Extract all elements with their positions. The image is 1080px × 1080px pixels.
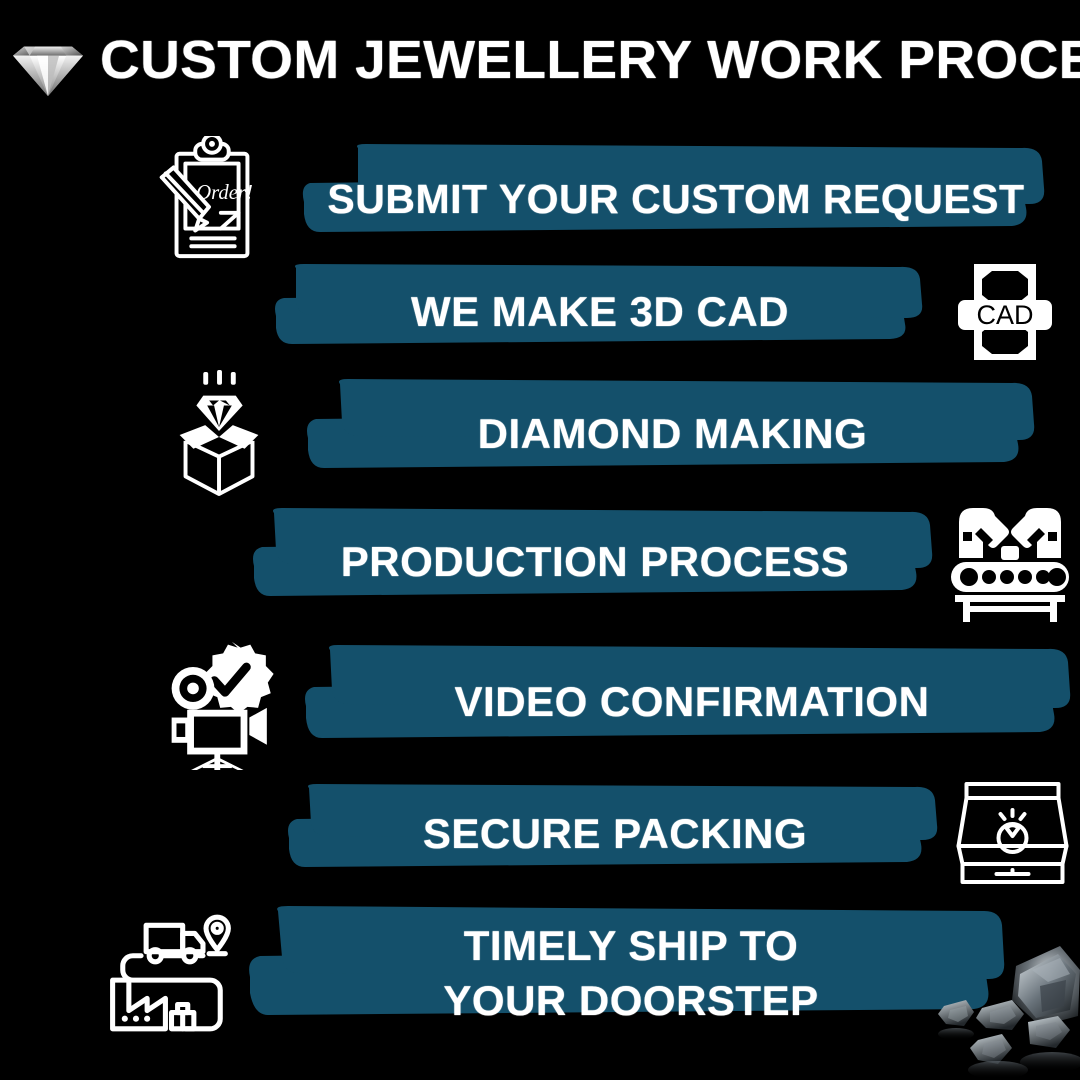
robotic-arm-conveyor-icon: [940, 502, 1080, 622]
clipboard-order-pencil-icon: Order!: [126, 136, 296, 264]
step-label: DIAMOND MAKING: [460, 410, 886, 459]
process-step-row: VIDEO CONFIRMATION: [0, 634, 1080, 770]
icon-caption: CAD: [976, 300, 1033, 330]
step-label: PRODUCTION PROCESS: [323, 538, 867, 587]
process-step-row: CAD WE MAKE 3D CAD: [0, 258, 1080, 366]
factory-truck-delivery-icon: [96, 900, 246, 1046]
step-banner[interactable]: SECURE PACKING: [285, 782, 945, 886]
video-camera-check-icon: [152, 634, 302, 770]
step-label: WE MAKE 3D CAD: [393, 288, 807, 337]
step-banner[interactable]: TIMELY SHIP TO YOUR DOORSTEP: [246, 903, 1016, 1043]
step-banner[interactable]: VIDEO CONFIRMATION: [302, 642, 1080, 762]
ring-box-icon: [945, 778, 1080, 890]
process-step-row: Order! SUBMIT YOUR CUSTOM REQUEST: [0, 136, 1080, 264]
cad-printer-icon: CAD: [930, 258, 1080, 366]
step-banner[interactable]: DIAMOND MAKING: [300, 376, 1045, 492]
process-step-row: PRODUCTION PROCESS: [0, 502, 1080, 622]
step-banner[interactable]: PRODUCTION PROCESS: [250, 506, 940, 618]
step-label: SUBMIT YOUR CUSTOM REQUEST: [309, 176, 1042, 224]
step-label: VIDEO CONFIRMATION: [437, 678, 948, 727]
step-label: TIMELY SHIP TO YOUR DOORSTEP: [425, 918, 836, 1029]
diamond-in-open-box-icon: [140, 370, 300, 498]
infographic-canvas: CUSTOM JEWELLERY WORK PROCESS: [0, 0, 1080, 1080]
step-banner[interactable]: WE MAKE 3D CAD: [270, 262, 930, 362]
diamond-icon: [2, 26, 94, 100]
page-header: CUSTOM JEWELLERY WORK PROCESS: [0, 0, 1080, 120]
step-banner[interactable]: SUBMIT YOUR CUSTOM REQUEST: [296, 142, 1056, 258]
process-step-row: DIAMOND MAKING: [0, 370, 1080, 498]
process-step-row: SECURE PACKING: [0, 778, 1080, 890]
icon-caption: Order!: [196, 182, 253, 204]
step-label: SECURE PACKING: [405, 810, 825, 859]
page-title: CUSTOM JEWELLERY WORK PROCESS: [100, 29, 1080, 91]
process-step-row: TIMELY SHIP TO YOUR DOORSTEP: [0, 900, 1080, 1046]
